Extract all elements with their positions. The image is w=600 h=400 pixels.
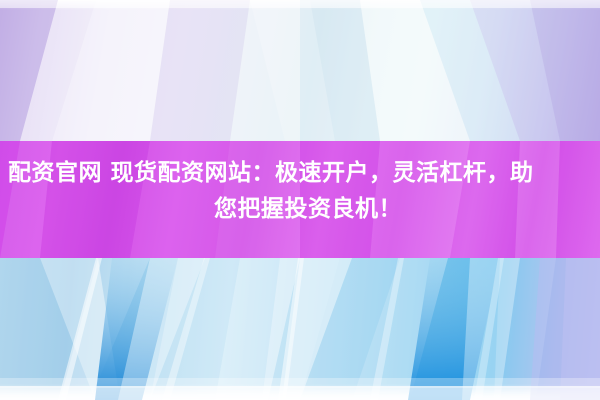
headline-line-2: 您把握投资良机！	[0, 191, 600, 227]
headline-line-1: 配资官网 现货配资网站：极速开户，灵活杠杆，助	[0, 155, 600, 191]
background-band-blue	[0, 258, 600, 400]
background-band-top	[0, 0, 600, 141]
headline-text: 配资官网 现货配资网站：极速开户，灵活杠杆，助 您把握投资良机！	[0, 155, 600, 227]
promo-banner: 配资官网 现货配资网站：极速开户，灵活杠杆，助 您把握投资良机！	[0, 0, 600, 400]
